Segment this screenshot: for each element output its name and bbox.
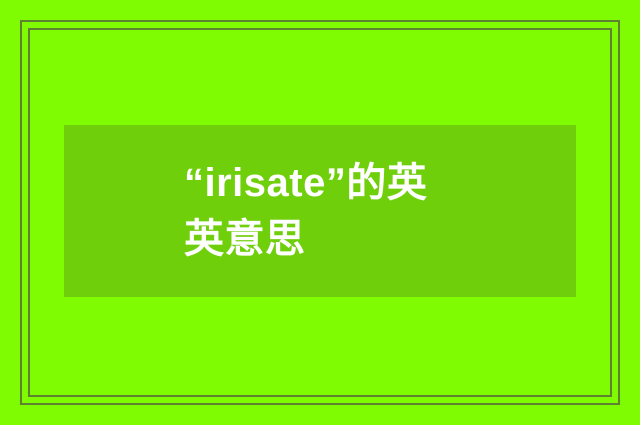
page-title: “irisate”的英英意思 <box>184 155 444 267</box>
title-banner: “irisate”的英英意思 <box>64 125 576 297</box>
page-root: “irisate”的英英意思 <box>0 0 640 425</box>
